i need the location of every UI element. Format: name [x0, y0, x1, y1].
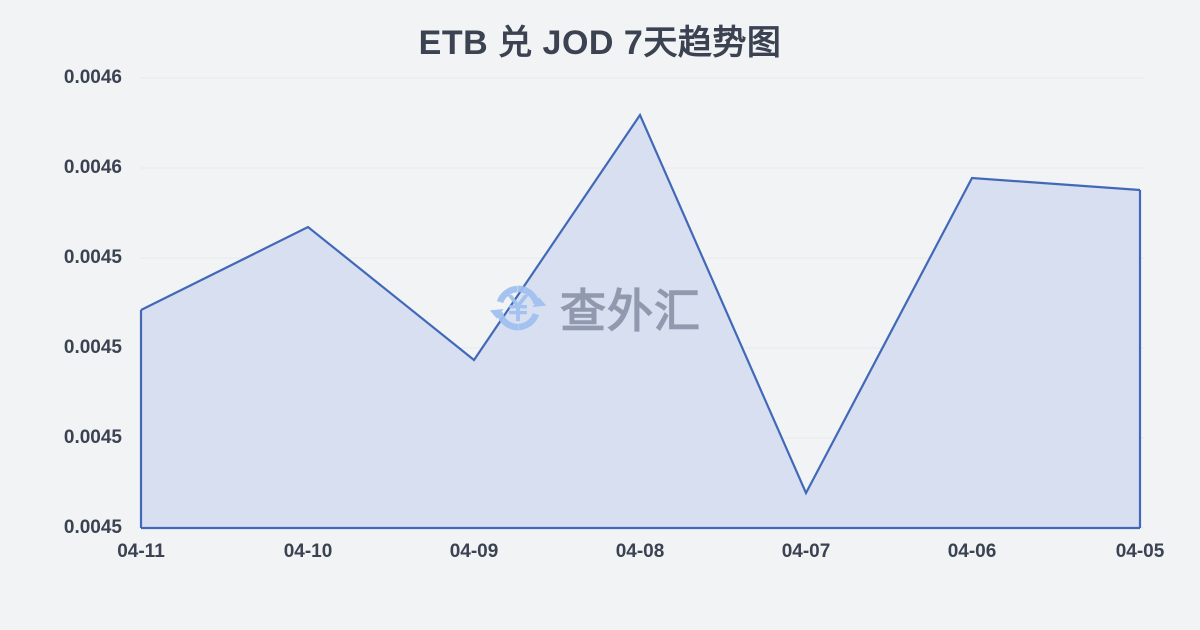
x-axis: 04-1104-1004-0904-0804-0704-0604-05 — [0, 541, 1200, 571]
x-axis-tick-label: 04-11 — [81, 541, 201, 563]
y-axis-tick-label: 0.0045 — [22, 427, 122, 449]
trend-chart-svg — [0, 0, 1200, 630]
x-axis-tick-label: 04-09 — [414, 541, 534, 563]
chart-page: ETB 兑 JOD 7天趋势图 0.00460.00460.00450.0045… — [0, 0, 1200, 630]
y-axis-tick-label: 0.0045 — [22, 247, 122, 269]
y-axis-tick-label: 0.0046 — [22, 157, 122, 179]
x-axis-tick-label: 04-08 — [580, 541, 700, 563]
x-axis-tick-label: 04-05 — [1080, 541, 1200, 563]
y-axis-tick-label: 0.0045 — [22, 337, 122, 359]
chart-plot-area — [0, 0, 1200, 630]
y-axis-tick-label: 0.0046 — [22, 67, 122, 89]
x-axis-tick-label: 04-06 — [912, 541, 1032, 563]
x-axis-tick-label: 04-10 — [248, 541, 368, 563]
x-axis-tick-label: 04-07 — [746, 541, 866, 563]
chart-area-fill — [141, 115, 1140, 528]
y-axis: 0.00460.00460.00450.00450.00450.0045 — [22, 0, 122, 630]
y-axis-tick-label: 0.0045 — [22, 517, 122, 539]
